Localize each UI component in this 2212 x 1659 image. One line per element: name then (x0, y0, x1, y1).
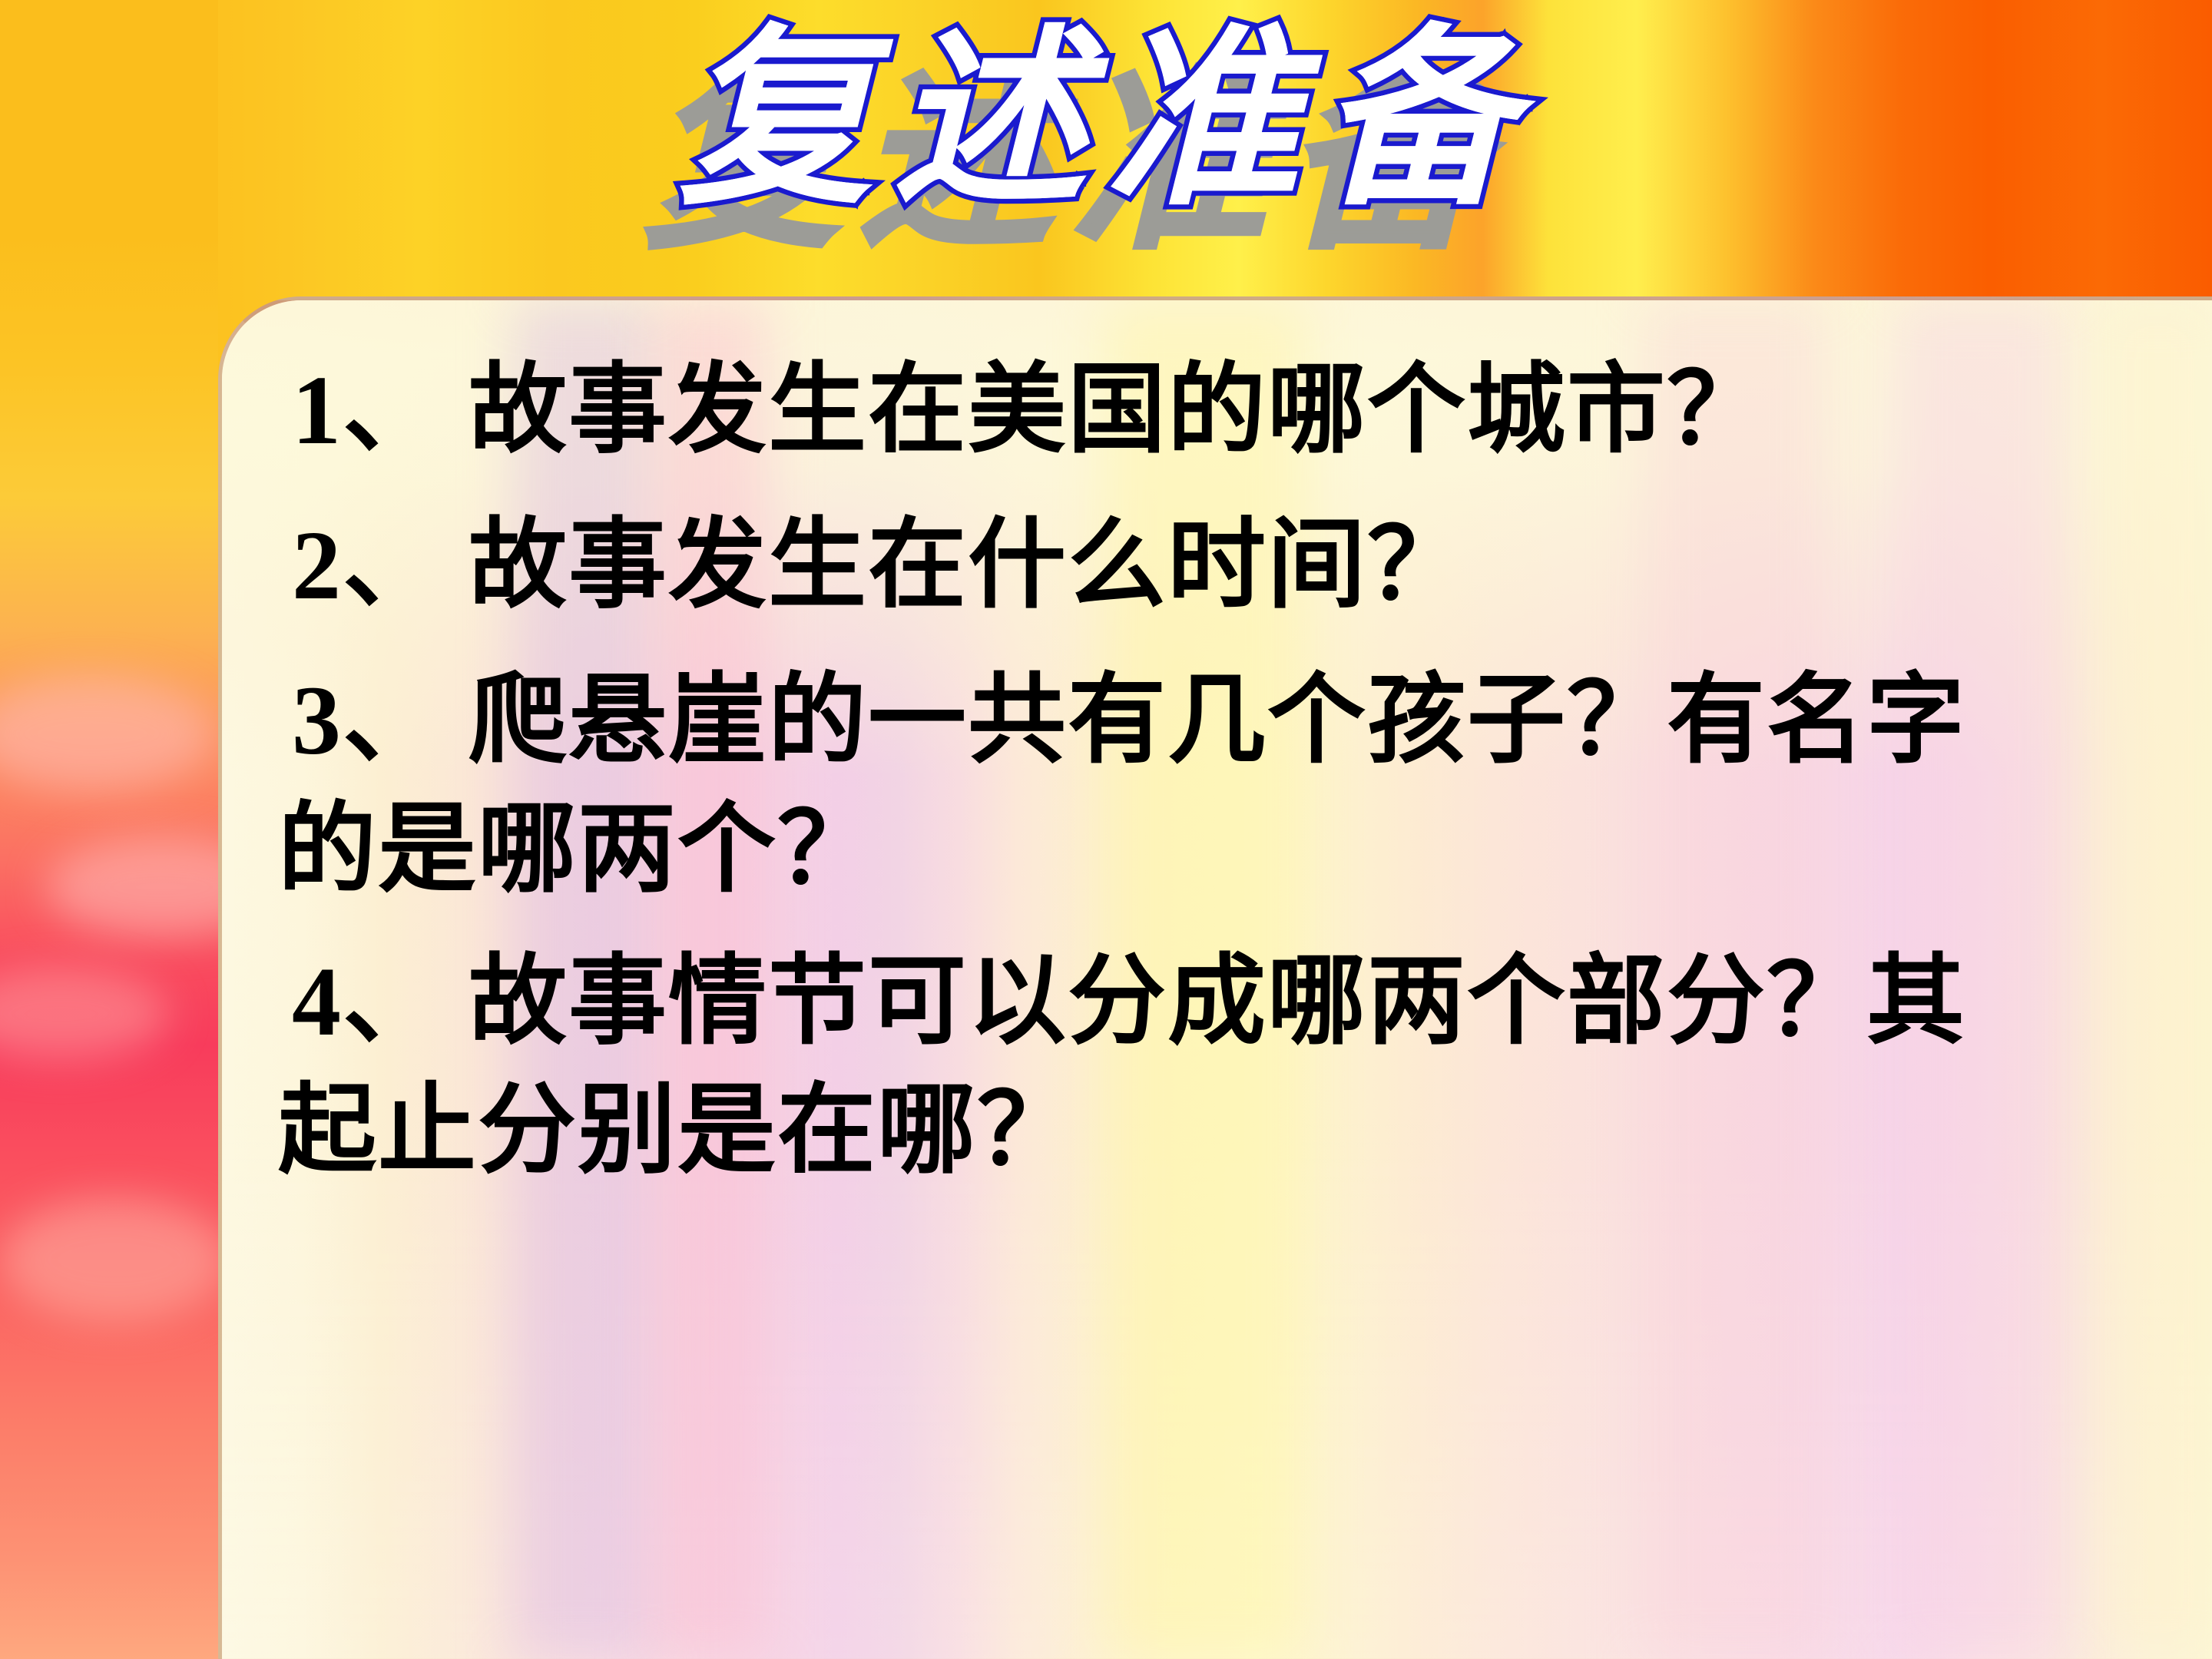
spacer (292, 914, 2151, 937)
question-2-line-1: 2、 故事发生在什么时间？ (292, 501, 2151, 630)
slide-title-outline: 复述准备 (679, 5, 1533, 232)
question-4-line-1: 4、 故事情节可以分成哪两个部分？其 (292, 937, 2151, 1066)
question-4-line-2: 起止分别是在哪？ (278, 1066, 2151, 1195)
spacer (292, 475, 2151, 501)
presentation-slide: 复述准备 复述准备 复述准备 1、 故事发生在美国的哪个城市？ 2、 故事发生在… (0, 0, 2212, 1659)
slide-title-fill: 复述准备 (679, 14, 1533, 223)
slide-title-container: 复述准备 复述准备 复述准备 (0, 14, 2212, 223)
slide-title-shadow: 复述准备 (645, 57, 1499, 266)
slide-title-wordart: 复述准备 复述准备 复述准备 (679, 14, 1533, 223)
left-gradient-strip (0, 0, 218, 1659)
question-3-line-2: 的是哪两个？ (278, 785, 2151, 914)
question-1-line-1: 1、 故事发生在美国的哪个城市？ (292, 346, 2151, 475)
question-list: 1、 故事发生在美国的哪个城市？ 2、 故事发生在什么时间？ 3、 爬悬崖的一共… (292, 346, 2151, 1195)
spacer (292, 630, 2151, 656)
question-3-line-1: 3、 爬悬崖的一共有几个孩子？有名字 (292, 656, 2151, 785)
